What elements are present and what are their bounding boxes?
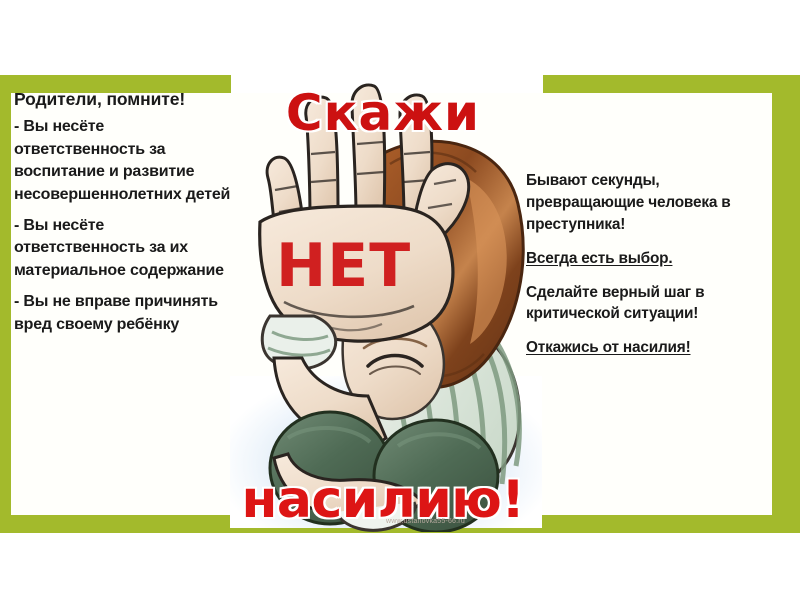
right-text-column: Бывают секунды, превращающие человека в … [526,170,774,371]
poster-title-top: Скажи [218,84,548,142]
slide-canvas: Родители, помните! - Вы несёте ответстве… [0,0,800,600]
frame-top-right-segment [543,75,800,93]
right-column-line-1: Бывают секунды, превращающие человека в … [526,170,774,236]
right-column-line-2: Всегда есть выбор. [526,248,774,270]
left-column-item-1: - Вы несёте ответственность за воспитани… [14,116,232,206]
left-column-heading: Родители, помните! [14,88,232,110]
right-column-line-3: Сделайте верный шаг в критической ситуац… [526,282,774,326]
poster-illustration: НЕТ Скажи насилию! www.ustanovka55-66.ru [218,66,548,532]
left-text-column: Родители, помните! - Вы несёте ответстве… [14,88,232,345]
left-column-item-2: - Вы несёте ответственность за их матери… [14,215,232,282]
frame-right-segment [772,75,800,533]
left-column-item-3: - Вы не вправе причинять вред своему реб… [14,291,232,336]
hand-text-net: НЕТ [276,231,411,301]
frame-left-segment [0,75,11,533]
right-column-line-4: Откажись от насилия! [526,337,774,359]
poster-title-bottom: насилию! [218,470,548,530]
poster-watermark: www.ustanovka55-66.ru [386,518,465,525]
